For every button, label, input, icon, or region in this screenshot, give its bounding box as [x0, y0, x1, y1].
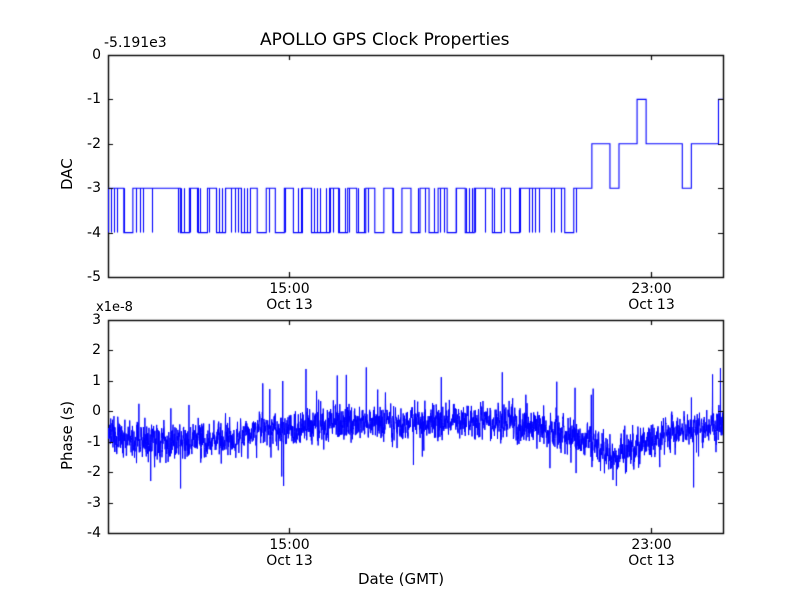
x-tick-time: 15:00 [245, 281, 335, 297]
figure-title: APOLLO GPS Clock Properties [260, 30, 510, 50]
x-tick-date: Oct 13 [607, 297, 697, 313]
x-tick-label: 15:00Oct 13 [245, 537, 335, 569]
y-tick-label: -3 [61, 495, 101, 511]
x-tick-date: Oct 13 [245, 297, 335, 313]
y-tick-label: -3 [61, 180, 101, 196]
dac-axis-offset-label: -5.191e3 [104, 35, 167, 51]
y-tick-label: -1 [61, 91, 101, 107]
y-tick-label: -5 [61, 269, 101, 285]
y-tick-label: 1 [61, 373, 101, 389]
y-tick-label: -1 [61, 434, 101, 450]
y-tick-label: 3 [61, 312, 101, 328]
y-tick-label: 0 [61, 47, 101, 63]
y-tick-label: -2 [61, 464, 101, 480]
y-tick-label: -4 [61, 525, 101, 541]
x-tick-label: 23:00Oct 13 [607, 537, 697, 569]
x-tick-time: 15:00 [245, 537, 335, 553]
x-tick-time: 23:00 [607, 537, 697, 553]
x-tick-date: Oct 13 [607, 553, 697, 569]
x-axis-label: Date (GMT) [358, 570, 444, 588]
x-tick-date: Oct 13 [245, 553, 335, 569]
x-tick-label: 15:00Oct 13 [245, 281, 335, 313]
matplotlib-figure: APOLLO GPS Clock Properties -5.191e3 x1e… [0, 0, 800, 600]
x-tick-time: 23:00 [607, 281, 697, 297]
y-tick-label: 0 [61, 403, 101, 419]
y-tick-label: -2 [61, 136, 101, 152]
phase-axis-multiplier-label: x1e-8 [96, 300, 133, 315]
y-tick-label: -4 [61, 225, 101, 241]
x-tick-label: 23:00Oct 13 [607, 281, 697, 313]
y-tick-label: 2 [61, 342, 101, 358]
